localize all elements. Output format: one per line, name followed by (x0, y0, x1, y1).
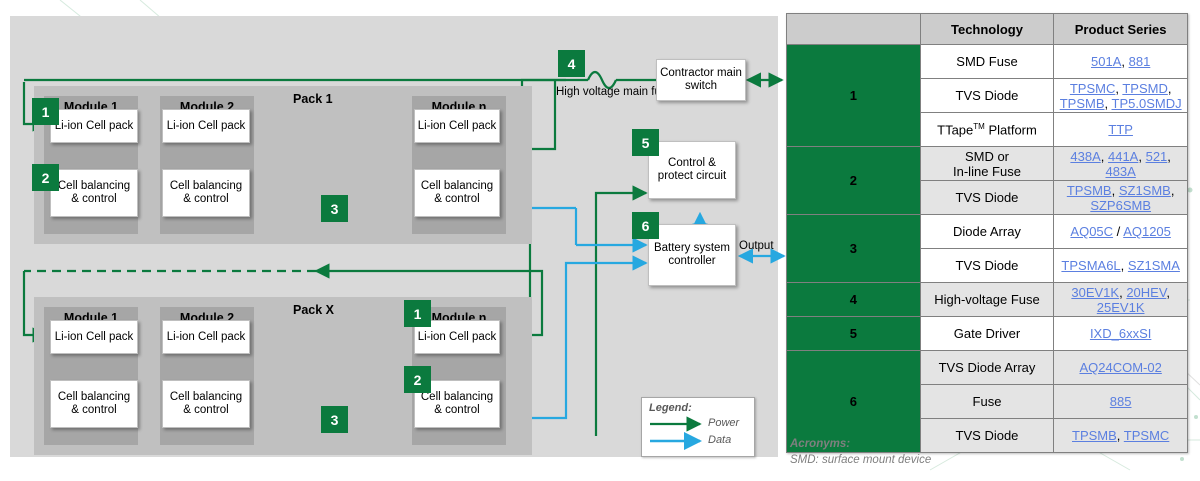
product-link[interactable]: 441A (1108, 149, 1138, 164)
header-technology: Technology (920, 14, 1054, 45)
product-link[interactable]: AQ1205 (1123, 224, 1171, 239)
product-link[interactable]: 521 (1146, 149, 1168, 164)
pack-x-module-1-cell-balancing[interactable]: Cell balancing & control (50, 380, 138, 428)
table-row: 1SMD Fuse501A, 881 (787, 45, 1188, 79)
product-separator: , (1168, 81, 1172, 96)
product-series-cell: 438A, 441A, 521, 483A (1054, 147, 1188, 181)
product-link[interactable]: 881 (1129, 54, 1151, 69)
product-separator: , (1138, 149, 1145, 164)
technology-cell: TVS Diode (920, 419, 1054, 453)
table-row: 6TVS Diode ArrayAQ24COM-02 (787, 351, 1188, 385)
product-selection-table-wrap: Technology Product Series 1SMD Fuse501A,… (786, 13, 1188, 453)
product-link[interactable]: TPSMB (1067, 183, 1112, 198)
table-row: 2SMD orIn-line Fuse438A, 441A, 521, 483A (787, 147, 1188, 181)
pack-1-title: Pack 1 (293, 92, 333, 106)
product-separator: / (1113, 224, 1123, 239)
high-voltage-main-fuse-label: High voltage main fuse (556, 86, 652, 99)
technology-cell: TTapeTM Platform (920, 113, 1054, 147)
badge-6-battery-system-controller[interactable]: 6 (632, 212, 659, 239)
product-separator: , (1105, 96, 1112, 111)
product-link[interactable]: AQ24COM-02 (1079, 360, 1161, 375)
product-link[interactable]: TTP (1108, 122, 1133, 137)
legend-power-label: Power (708, 417, 739, 429)
row-number-cell: 1 (787, 45, 921, 147)
product-link[interactable]: TPSMB (1072, 428, 1117, 443)
header-product-series: Product Series (1054, 14, 1188, 45)
product-separator: , (1101, 149, 1108, 164)
contractor-main-switch-box[interactable]: Contractor main switch (656, 59, 746, 101)
row-number-cell: 2 (787, 147, 921, 215)
pack-x-module-1-cell-pack[interactable]: Li-ion Cell pack (50, 320, 138, 354)
badge-3-pack-x[interactable]: 3 (321, 406, 348, 433)
acronyms-title: Acronyms: (790, 437, 931, 453)
technology-cell: SMD orIn-line Fuse (920, 147, 1054, 181)
pack-x-module-2-cell-pack[interactable]: Li-ion Cell pack (162, 320, 250, 354)
row-number-cell: 3 (787, 215, 921, 283)
product-link[interactable]: TPSMB (1060, 96, 1105, 111)
badge-3-pack-1[interactable]: 3 (321, 195, 348, 222)
product-series-cell: AQ24COM-02 (1054, 351, 1188, 385)
product-series-cell: TPSMB, SZ1SMB, SZP6SMB (1054, 181, 1188, 215)
product-series-cell: 30EV1K, 20HEV, 25EV1K (1054, 283, 1188, 317)
product-link[interactable]: 885 (1110, 394, 1132, 409)
product-series-cell: AQ05C / AQ1205 (1054, 215, 1188, 249)
badge-4-high-voltage-fuse[interactable]: 4 (558, 50, 585, 77)
product-link[interactable]: 438A (1070, 149, 1100, 164)
product-link[interactable]: AQ05C (1070, 224, 1113, 239)
pack-1-module-n-cell-pack[interactable]: Li-ion Cell pack (414, 109, 500, 143)
product-link[interactable]: 30EV1K (1071, 285, 1119, 300)
table-header-row: Technology Product Series (787, 14, 1188, 45)
acronyms-note: Acronyms: SMD: surface mount device (790, 437, 931, 468)
technology-cell: High-voltage Fuse (920, 283, 1054, 317)
page-root: Pack 1 Module 1 Module 2 Module n Li-ion… (0, 0, 1200, 481)
product-separator: , (1121, 54, 1128, 69)
table-row: 4High-voltage Fuse30EV1K, 20HEV, 25EV1K (787, 283, 1188, 317)
product-link[interactable]: 25EV1K (1097, 300, 1145, 315)
product-link[interactable]: SZ1SMA (1128, 258, 1180, 273)
product-series-cell: 501A, 881 (1054, 45, 1188, 79)
pack-1-module-n-cell-balancing[interactable]: Cell balancing & control (414, 169, 500, 217)
table-body: 1SMD Fuse501A, 881TVS DiodeTPSMC, TPSMD,… (787, 45, 1188, 453)
technology-cell: TVS Diode (920, 181, 1054, 215)
battery-system-diagram: Pack 1 Module 1 Module 2 Module n Li-ion… (10, 16, 778, 457)
trademark-superscript: TM (973, 122, 985, 131)
battery-system-controller-box[interactable]: Battery system controller (648, 224, 736, 286)
technology-cell: Diode Array (920, 215, 1054, 249)
pack-1-module-1-cell-pack[interactable]: Li-ion Cell pack (50, 109, 138, 143)
product-separator: , (1117, 428, 1124, 443)
product-series-cell: 885 (1054, 385, 1188, 419)
badge-2-pack-x[interactable]: 2 (404, 366, 431, 393)
product-series-cell: TTP (1054, 113, 1188, 147)
product-link[interactable]: IXD_6xxSI (1090, 326, 1151, 341)
product-series-cell: TPSMA6L, SZ1SMA (1054, 249, 1188, 283)
legend-box: Legend: Power Data (641, 397, 755, 457)
product-link[interactable]: TPSMC (1124, 428, 1170, 443)
pack-x-title: Pack X (293, 303, 334, 317)
technology-cell: TVS Diode Array (920, 351, 1054, 385)
product-separator: , (1121, 258, 1128, 273)
pack-1-module-1-cell-balancing[interactable]: Cell balancing & control (50, 169, 138, 217)
product-link[interactable]: TPSMD (1122, 81, 1168, 96)
badge-1-pack-x[interactable]: 1 (404, 300, 431, 327)
badge-2-pack-1[interactable]: 2 (32, 164, 59, 191)
product-link[interactable]: 20HEV (1126, 285, 1166, 300)
product-link[interactable]: SZ1SMB (1119, 183, 1171, 198)
product-link[interactable]: TPSMC (1070, 81, 1116, 96)
badge-1-pack-1[interactable]: 1 (32, 98, 59, 125)
badge-5-control-protect[interactable]: 5 (632, 129, 659, 156)
product-link[interactable]: TPSMA6L (1061, 258, 1120, 273)
product-link[interactable]: 501A (1091, 54, 1121, 69)
pack-1-module-2-cell-balancing[interactable]: Cell balancing & control (162, 169, 250, 217)
pack-x-module-2-cell-balancing[interactable]: Cell balancing & control (162, 380, 250, 428)
product-separator: , (1171, 183, 1175, 198)
product-selection-table: Technology Product Series 1SMD Fuse501A,… (786, 13, 1188, 453)
product-separator: , (1112, 183, 1119, 198)
acronyms-line-1: SMD: surface mount device (790, 453, 931, 469)
table-row: 3Diode ArrayAQ05C / AQ1205 (787, 215, 1188, 249)
product-separator: , (1166, 285, 1170, 300)
product-link[interactable]: 483A (1105, 164, 1135, 179)
product-link[interactable]: TP5.0SMDJ (1112, 96, 1182, 111)
control-protect-circuit-box[interactable]: Control & protect circuit (648, 141, 736, 199)
technology-cell: Fuse (920, 385, 1054, 419)
row-number-cell: 5 (787, 317, 921, 351)
row-number-cell: 4 (787, 283, 921, 317)
product-series-cell: TPSMC, TPSMD, TPSMB, TP5.0SMDJ (1054, 79, 1188, 113)
table-row: 5Gate DriverIXD_6xxSI (787, 317, 1188, 351)
product-series-cell: IXD_6xxSI (1054, 317, 1188, 351)
technology-cell: TVS Diode (920, 249, 1054, 283)
product-series-cell: TPSMB, TPSMC (1054, 419, 1188, 453)
pack-1-module-2-cell-pack[interactable]: Li-ion Cell pack (162, 109, 250, 143)
product-separator: , (1167, 149, 1171, 164)
technology-cell: TVS Diode (920, 79, 1054, 113)
output-label: Output (739, 240, 774, 253)
technology-cell: Gate Driver (920, 317, 1054, 351)
product-link[interactable]: SZP6SMB (1090, 198, 1151, 213)
header-number-blank (787, 14, 921, 45)
technology-cell: SMD Fuse (920, 45, 1054, 79)
legend-data-label: Data (708, 434, 731, 446)
